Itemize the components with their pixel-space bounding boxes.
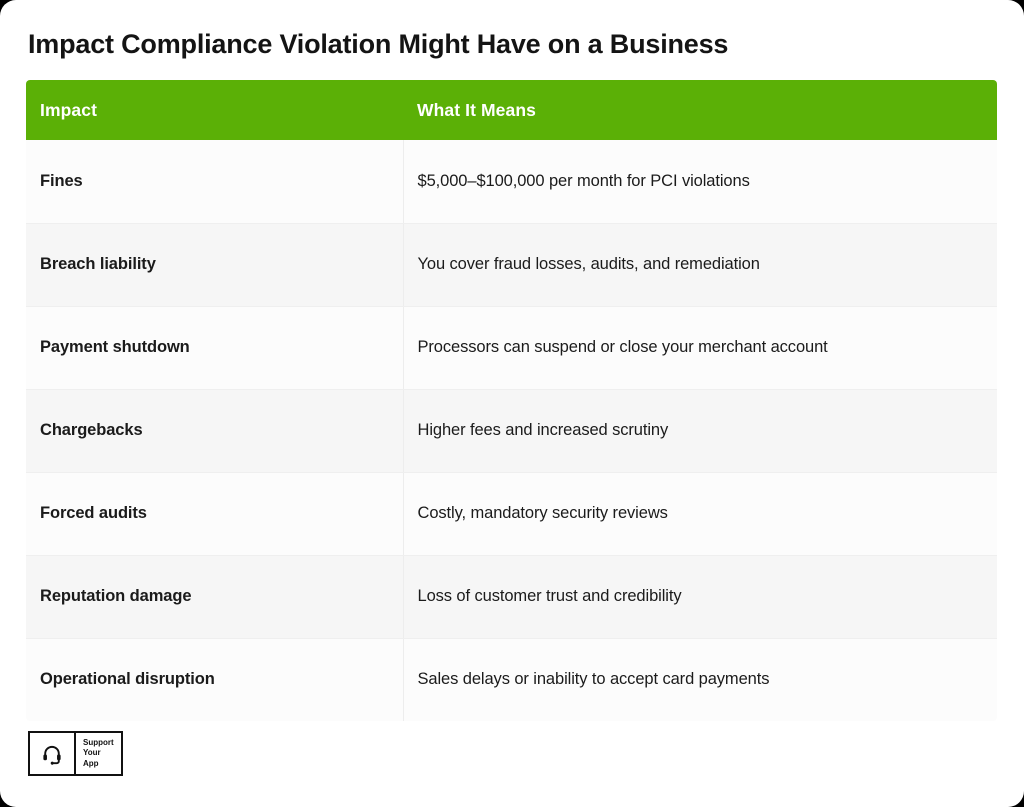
table-row: Operational disruptionSales delays or in… bbox=[26, 638, 997, 721]
logo-line-1: Support bbox=[83, 738, 114, 749]
table-row: Reputation damageLoss of customer trust … bbox=[26, 555, 997, 638]
cell-what-it-means: Costly, mandatory security reviews bbox=[403, 472, 997, 555]
cell-impact: Forced audits bbox=[26, 472, 403, 555]
table-body: Fines$5,000–$100,000 per month for PCI v… bbox=[26, 140, 997, 721]
cell-impact: Fines bbox=[26, 140, 403, 223]
table-row: Payment shutdownProcessors can suspend o… bbox=[26, 306, 997, 389]
cell-impact: Reputation damage bbox=[26, 555, 403, 638]
cell-what-it-means: Processors can suspend or close your mer… bbox=[403, 306, 997, 389]
cell-impact: Breach liability bbox=[26, 223, 403, 306]
page-card: Impact Compliance Violation Might Have o… bbox=[0, 0, 1024, 807]
logo-line-2: Your bbox=[83, 748, 114, 759]
cell-impact: Operational disruption bbox=[26, 638, 403, 721]
cell-what-it-means: You cover fraud losses, audits, and reme… bbox=[403, 223, 997, 306]
brand-logo: Support Your App bbox=[28, 731, 123, 776]
table-row: ChargebacksHigher fees and increased scr… bbox=[26, 389, 997, 472]
table-row: Breach liabilityYou cover fraud losses, … bbox=[26, 223, 997, 306]
table-header-row: Impact What It Means bbox=[26, 80, 997, 140]
logo-line-3: App bbox=[83, 759, 114, 770]
cell-what-it-means: Higher fees and increased scrutiny bbox=[403, 389, 997, 472]
column-header-impact: Impact bbox=[26, 80, 403, 140]
table-header: Impact What It Means bbox=[26, 80, 997, 140]
logo-wordmark: Support Your App bbox=[76, 733, 121, 774]
cell-what-it-means: Loss of customer trust and credibility bbox=[403, 555, 997, 638]
table-row: Forced auditsCostly, mandatory security … bbox=[26, 472, 997, 555]
cell-impact: Payment shutdown bbox=[26, 306, 403, 389]
column-header-what-it-means: What It Means bbox=[403, 80, 997, 140]
page-title: Impact Compliance Violation Might Have o… bbox=[28, 27, 728, 61]
headset-icon bbox=[30, 733, 76, 774]
cell-impact: Chargebacks bbox=[26, 389, 403, 472]
cell-what-it-means: Sales delays or inability to accept card… bbox=[403, 638, 997, 721]
table-row: Fines$5,000–$100,000 per month for PCI v… bbox=[26, 140, 997, 223]
cell-what-it-means: $5,000–$100,000 per month for PCI violat… bbox=[403, 140, 997, 223]
impact-table: Impact What It Means Fines$5,000–$100,00… bbox=[26, 80, 997, 721]
